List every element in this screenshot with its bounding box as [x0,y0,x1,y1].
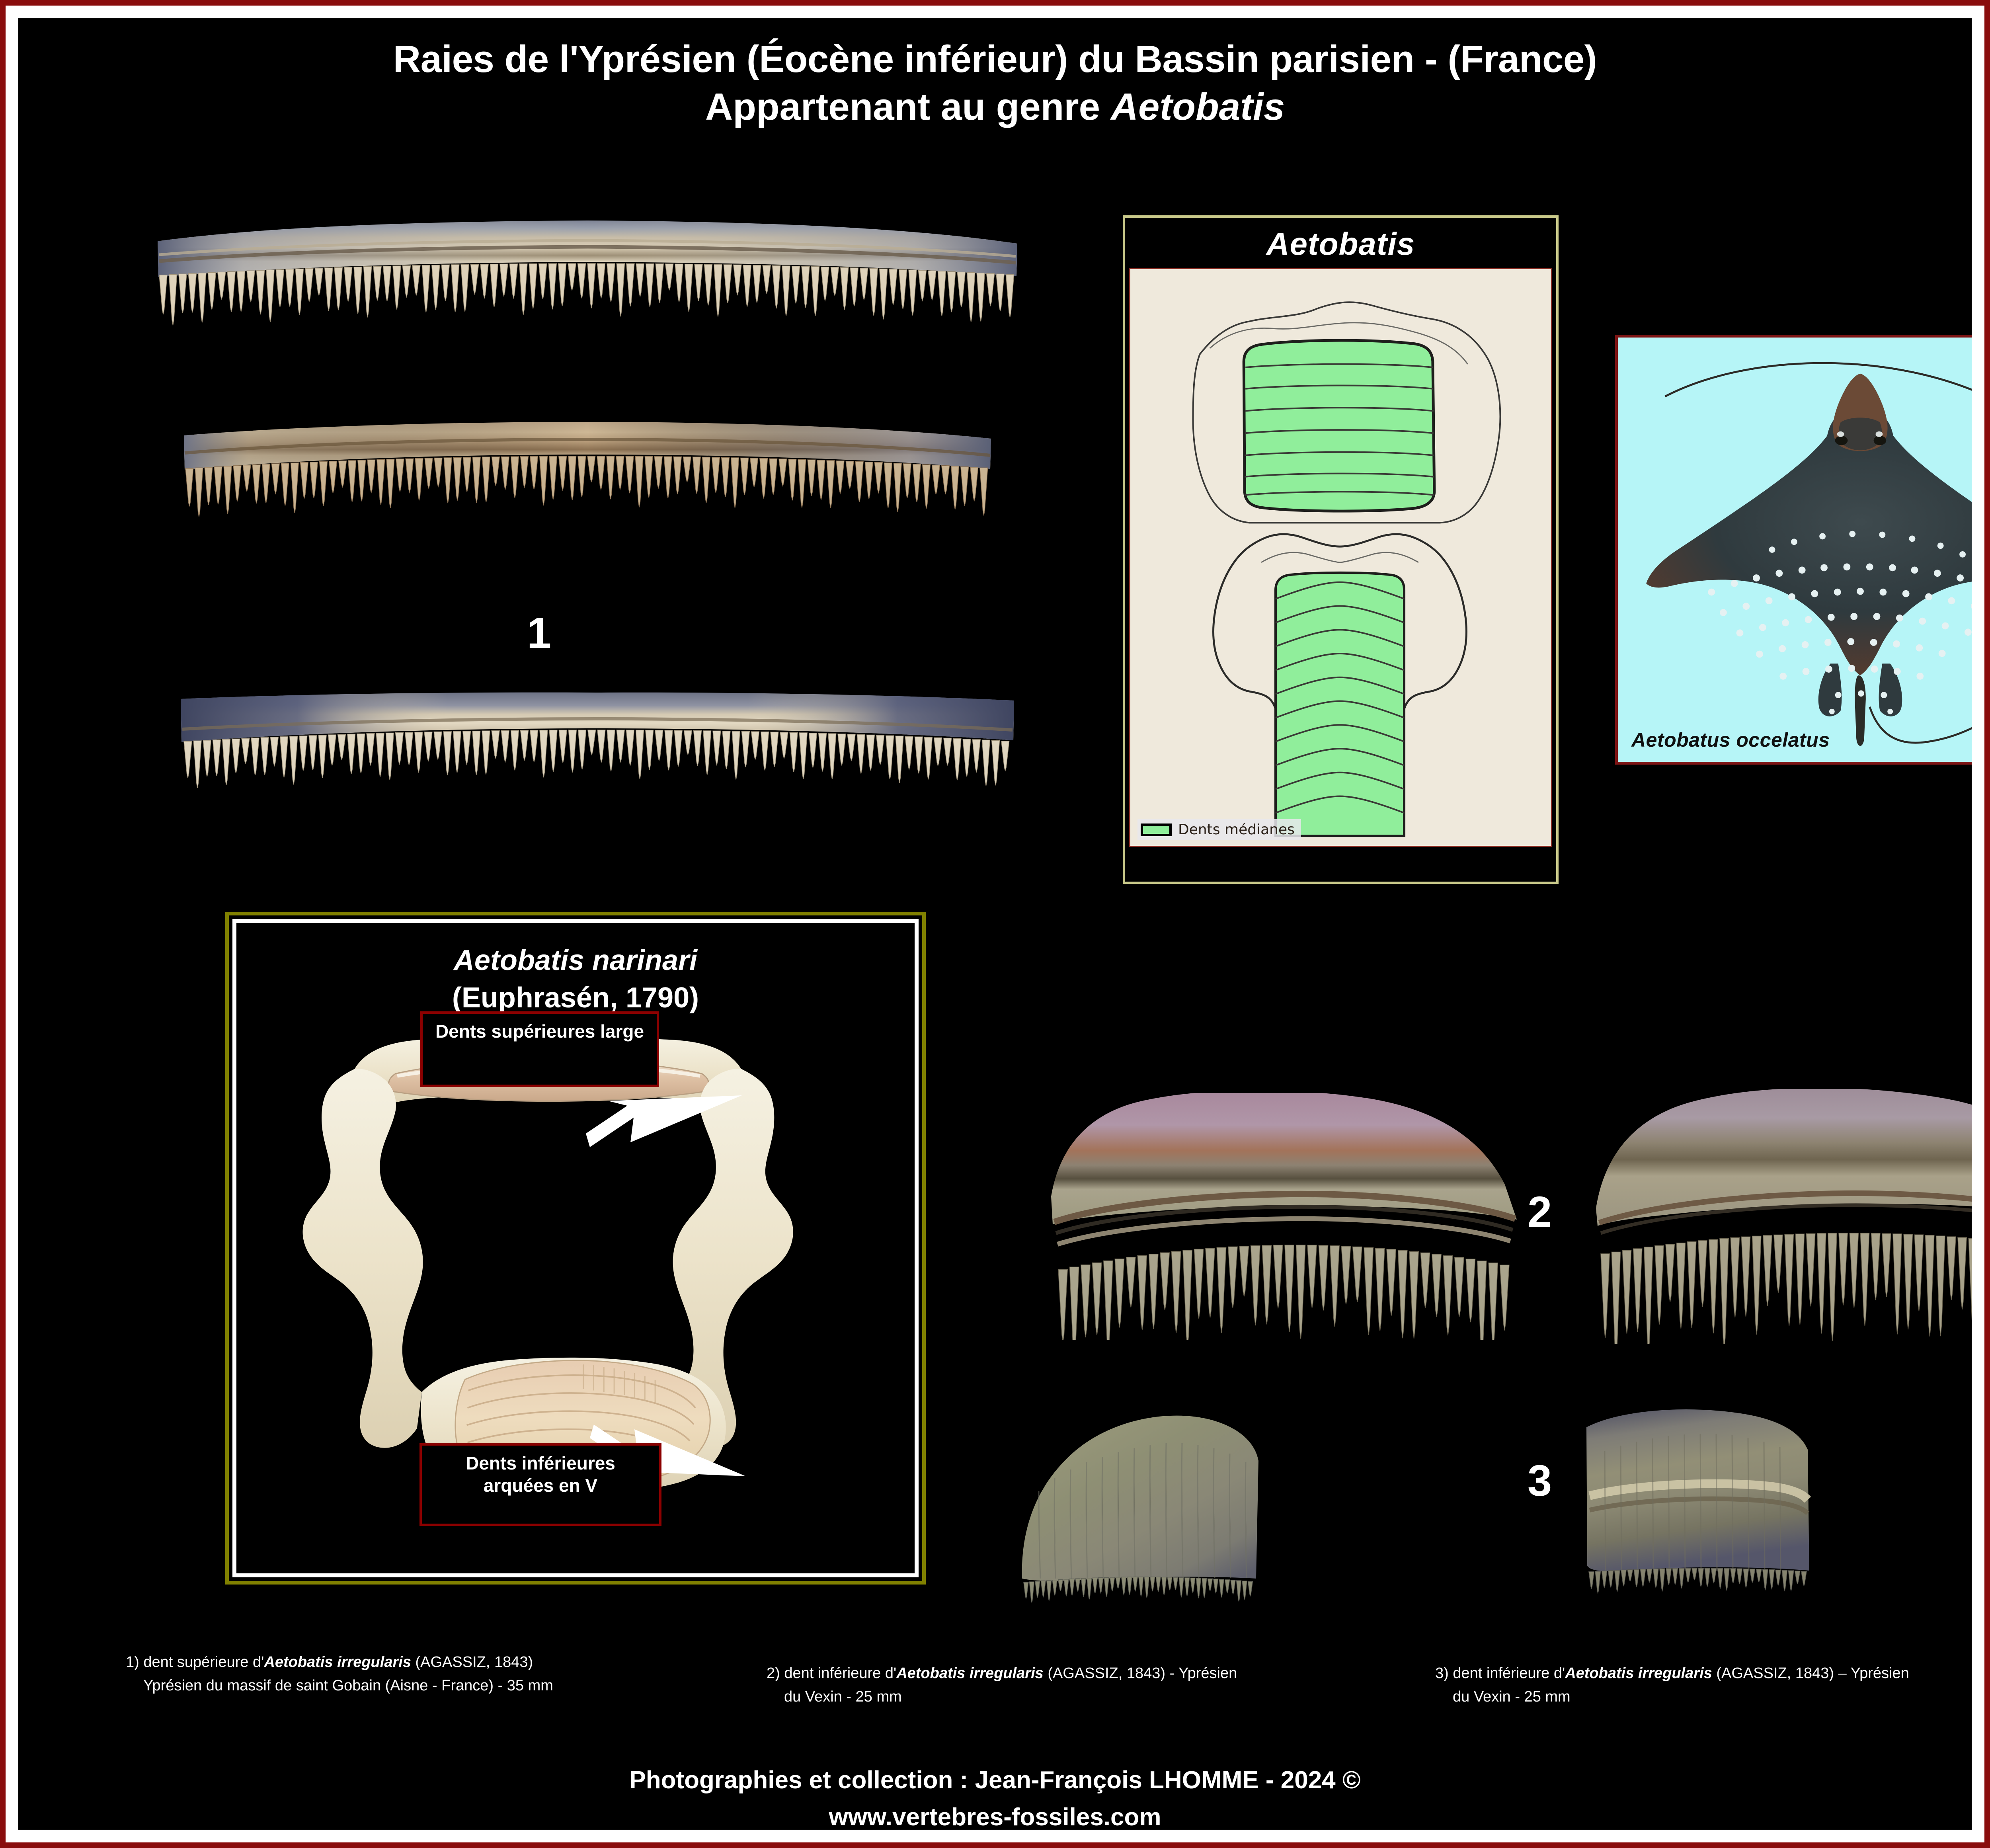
caption-3-prefix: 3) dent inférieure d' [1435,1665,1565,1682]
caption-3-suffix: (AGASSIZ, 1843) – Yprésien [1712,1665,1909,1682]
caption-2-suffix: (AGASSIZ, 1843) - Yprésien [1044,1665,1237,1682]
caption-specimen-2: 2) dent inférieure d'Aetobatis irregular… [767,1662,1419,1709]
poster-canvas: Raies de l'Yprésien (Éocène inférieur) d… [18,18,1972,1830]
legend-swatch-median-teeth [1141,824,1172,836]
callout-upper-teeth: Dents supérieures large [420,1011,659,1087]
fossil-plate-2a [1035,1093,1533,1340]
poster-outer-border: Raies de l'Yprésien (Éocène inférieur) d… [0,0,1990,1848]
caption-1-species: Aetobatis irregularis [264,1654,411,1670]
specimen-number-2: 2 [1528,1190,1552,1234]
callout-lower-teeth: Dents inférieures arquées en V [419,1443,661,1526]
specimen-number-1: 1 [527,611,551,655]
poster-white-border: Raies de l'Yprésien (Éocène inférieur) d… [6,6,1984,1842]
aetobatis-diagram-box: Aetobatis [1123,215,1559,884]
caption-2-species: Aetobatis irregularis [896,1665,1044,1682]
aetobatus-occelatus-photo: Aetobatus occelatus [1615,335,1972,765]
aetobatis-box-title: Aetobatis [1129,222,1552,268]
title-line-1: Raies de l'Yprésien (Éocène inférieur) d… [18,37,1972,81]
credit-website: www.vertebres-fossiles.com [18,1799,1972,1830]
credit-author: Photographies et collection : Jean-Franç… [18,1762,1972,1799]
caption-2-line2: du Vexin - 25 mm [767,1685,1419,1709]
caption-3-line2: du Vexin - 25 mm [1435,1685,1972,1709]
caption-1-suffix: (AGASSIZ, 1843) [411,1654,533,1670]
caption-2-prefix: 2) dent inférieure d' [767,1665,896,1682]
page-title: Raies de l'Yprésien (Éocène inférieur) d… [18,37,1972,133]
aetobatis-legend: Dents médianes [1137,819,1301,840]
caption-specimen-3: 3) dent inférieure d'Aetobatis irregular… [1435,1662,1972,1709]
title-line-2: Appartenant au genre Aetobatis [18,81,1972,133]
legend-label-median-teeth: Dents médianes [1178,822,1295,838]
title-line-2-genus: Aetobatis [1111,86,1285,128]
caption-1-line2: Yprésien du massif de saint Gobain (Aisn… [126,1674,778,1698]
caption-1-prefix: 1) dent supérieure d' [126,1654,264,1670]
fossil-plate-2b [1582,1089,1972,1344]
title-line-2-prefix: Appartenant au genre [705,86,1111,128]
aetobatis-plate-drawing: Dents médianes [1129,268,1552,847]
fossil-plate-1c [174,691,1021,822]
fossil-plate-1b [178,416,997,536]
caption-specimen-1: 1) dent supérieure d'Aetobatis irregular… [126,1651,778,1698]
fossil-plate-1a [150,213,1025,333]
credits-block: Photographies et collection : Jean-Franç… [18,1762,1972,1830]
captions-row: 1) dent supérieure d'Aetobatis irregular… [18,1648,1972,1732]
occelatus-species-label: Aetobatus occelatus [1631,728,1830,751]
fossil-plate-3a [1013,1411,1411,1634]
specimen-number-3: 3 [1528,1459,1552,1503]
fossil-plate-3b [1571,1403,1921,1634]
caption-3-species: Aetobatis irregularis [1565,1665,1712,1682]
